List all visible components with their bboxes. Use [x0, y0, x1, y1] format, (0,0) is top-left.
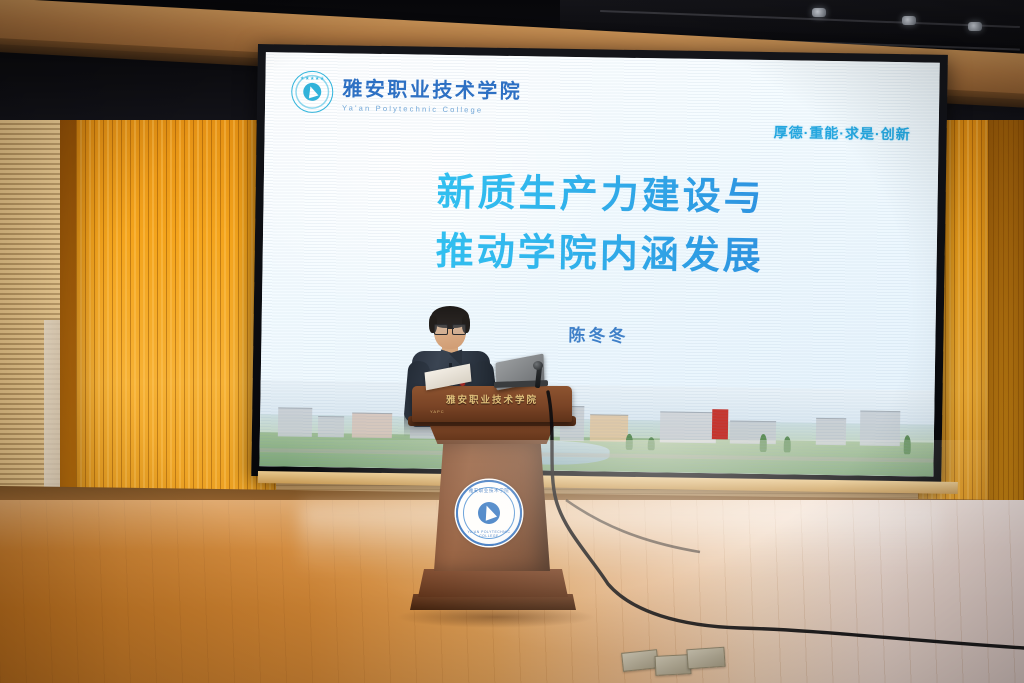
seal-stars: ★★★★★	[292, 76, 332, 83]
panorama-building	[590, 414, 628, 442]
slide-presenter-name: 陈冬冬	[261, 316, 935, 352]
floor-outlet-plate	[621, 649, 659, 672]
panorama-tree	[760, 434, 767, 452]
floor-outlet-plate	[686, 647, 725, 670]
stage-floor-reflection	[300, 505, 940, 575]
panorama-tree	[626, 434, 633, 450]
emblem-text-top: 雅安职业技术学院	[458, 488, 520, 494]
slide-campus-panorama	[259, 380, 934, 477]
slide-title-line1: 新质生产力建设与	[263, 160, 938, 229]
glasses-icon	[434, 324, 466, 333]
emblem-text-bottom: YA'AN POLYTECHNIC COLLEGE	[458, 530, 520, 538]
stage-light-icon	[812, 8, 826, 17]
led-screen[interactable]: ★★★★★ 雅安职业技术学院 Ya'an Polytechnic College…	[259, 52, 939, 477]
stage-light-icon	[902, 16, 916, 25]
panorama-tree	[648, 437, 655, 450]
panorama-building	[660, 411, 716, 443]
presentation-slide: ★★★★★ 雅安职业技术学院 Ya'an Polytechnic College…	[259, 52, 939, 477]
slide-title-line2: 推动学院内涵发展	[262, 219, 937, 288]
panorama-building	[860, 411, 901, 447]
podium: 雅安职业技术学院 YA'AN POLYTECHNIC COLLEGE 雅安职业技…	[404, 386, 580, 626]
glasses-bridge	[447, 328, 454, 329]
panorama-tree	[904, 435, 911, 454]
podium-base	[418, 569, 568, 597]
panorama-tree	[784, 436, 791, 452]
glasses-lens-right	[452, 324, 466, 335]
panorama-building	[816, 418, 846, 445]
slide-title: 新质生产力建设与 推动学院内涵发展	[262, 160, 938, 288]
stage-light-icon	[968, 22, 982, 31]
panorama-red-banner	[712, 409, 728, 439]
panorama-building	[278, 407, 312, 437]
college-seal-icon: ★★★★★	[291, 71, 334, 114]
college-emblem-icon: 雅安职业技术学院 YA'AN POLYTECHNIC COLLEGE	[456, 480, 522, 546]
microphone-head	[533, 361, 543, 370]
slide-motto: 厚德·重能·求是·创新	[774, 122, 911, 144]
auditorium-photo: ★★★★★ 雅安职业技术学院 Ya'an Polytechnic College…	[0, 0, 1024, 683]
slide-school-name-en: Ya'an Polytechnic College	[342, 103, 522, 115]
panorama-building	[352, 413, 392, 439]
glasses-lens-left	[434, 324, 448, 335]
slide-school-name-cn: 雅安职业技术学院	[342, 72, 522, 104]
podium-neck	[430, 426, 554, 444]
panorama-building	[730, 420, 776, 444]
podium-small-mark: YAPC	[430, 409, 445, 414]
panorama-building	[318, 416, 344, 437]
slide-logo: ★★★★★ 雅安职业技术学院 Ya'an Polytechnic College	[291, 71, 523, 117]
led-screen-bezel: ★★★★★ 雅安职业技术学院 Ya'an Polytechnic College…	[251, 44, 948, 487]
podium-nameplate: 雅安职业技术学院	[412, 392, 572, 406]
